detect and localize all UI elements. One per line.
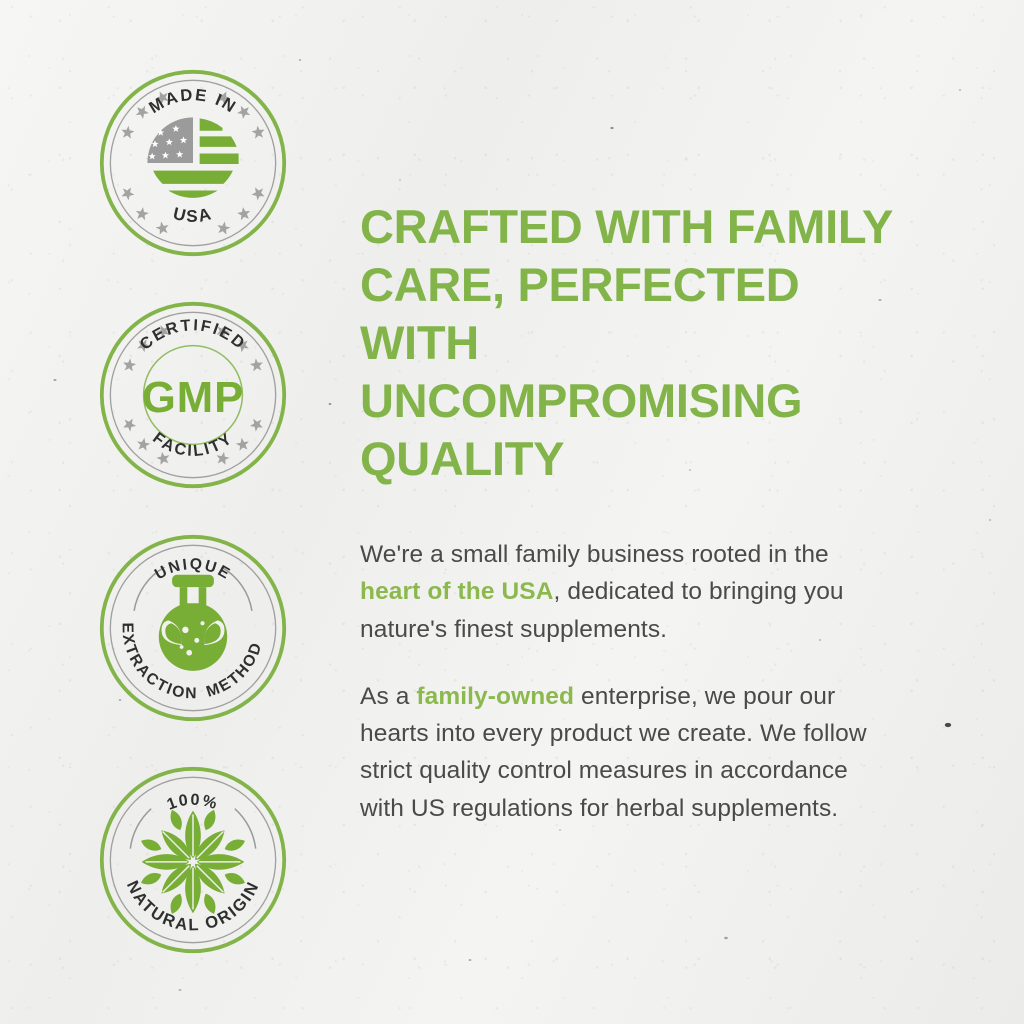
badge-natural-origin: 100% NATURAL ORIGIN	[98, 765, 288, 955]
leaf-rosette-icon	[139, 808, 247, 916]
content-column: Crafted with Family Care, Perfected with…	[340, 0, 1024, 1024]
usa-flag-circle-icon	[147, 117, 238, 197]
trust-badges-column: MADE IN USA	[0, 0, 340, 1024]
gmp-text-icon: GMP	[142, 373, 244, 422]
svg-text:MADE IN: MADE IN	[146, 85, 241, 117]
paragraph-1-text-before: We're a small family business rooted in …	[360, 541, 829, 568]
paragraph-2-text-before: As a	[360, 683, 416, 710]
page-headline: Crafted with Family Care, Perfected with…	[360, 198, 920, 488]
badge-gmp-certified: GMP CERTIFIED FACILITY	[98, 300, 288, 490]
flask-leaf-icon	[159, 575, 227, 671]
paragraph-1-highlight: heart of the USA	[360, 578, 554, 605]
svg-text:100%: 100%	[164, 791, 220, 814]
badge-made-in-usa: MADE IN USA	[98, 68, 288, 258]
body-paragraph-1: We're a small family business rooted in …	[360, 536, 880, 648]
svg-text:USA: USA	[171, 204, 215, 226]
body-paragraph-2: As a family-owned enterprise, we pour ou…	[360, 678, 880, 827]
paragraph-2-highlight: family-owned	[416, 683, 574, 710]
badge-unique-extraction-method: UNIQUE EXTRACTION METHOD	[98, 533, 288, 723]
